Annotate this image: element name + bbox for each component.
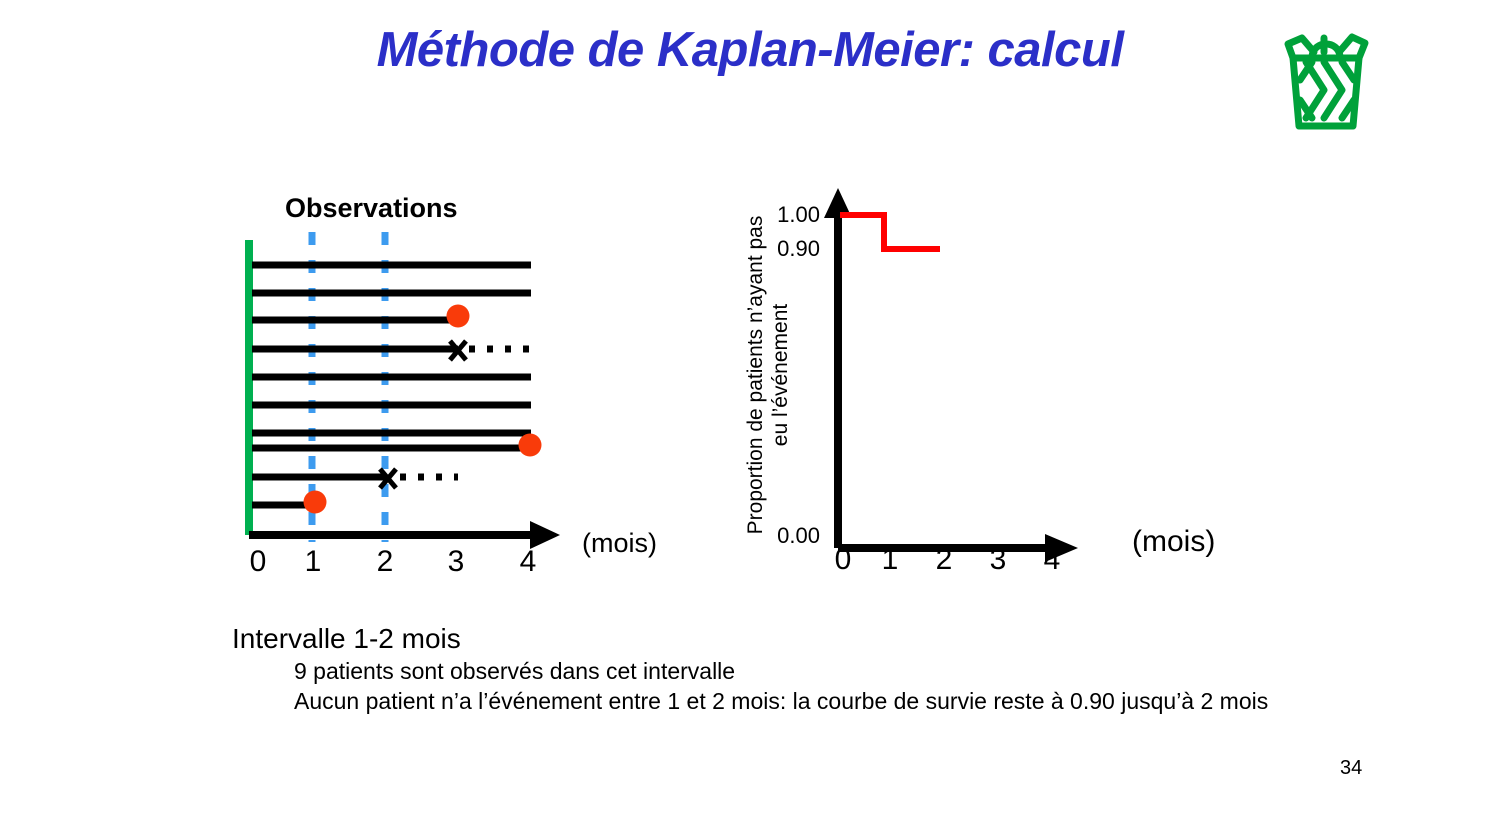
waste-basket-icon — [1266, 18, 1386, 138]
km-x-tick-4: 4 — [1037, 543, 1067, 577]
caption-heading: Intervalle 1-2 mois — [232, 622, 1412, 656]
slide-canvas: Méthode de Kaplan-Meier: calcul Observat… — [0, 0, 1500, 827]
event-dot-row-3 — [447, 305, 470, 328]
km-x-tick-2: 2 — [929, 543, 959, 577]
km-y-tick-0-00: 0.00 — [758, 523, 820, 549]
km-x-tick-3: 3 — [983, 543, 1013, 577]
km-y-tick-1-00: 1.00 — [758, 202, 820, 228]
kaplan-meier-chart: Proportion de patients n’ayant pas eu l’… — [700, 170, 1260, 600]
observations-x-tick-2: 2 — [370, 545, 400, 579]
observations-x-tick-0: 0 — [243, 545, 273, 579]
caption-line-1: 9 patients sont observés dans cet interv… — [294, 656, 1412, 686]
event-dot-row-8 — [519, 434, 542, 457]
km-y-tick-0-90: 0.90 — [758, 236, 820, 262]
page-number: 34 — [1340, 757, 1362, 780]
caption-block: Intervalle 1-2 mois 9 patients sont obse… — [232, 622, 1412, 716]
km-x-tick-1: 1 — [875, 543, 905, 577]
observations-x-tick-1: 1 — [298, 545, 328, 579]
caption-line-2: Aucun patient n’a l’événement entre 1 et… — [294, 686, 1412, 716]
km-survival-curve — [840, 215, 940, 249]
observations-chart: Observations — [230, 180, 690, 600]
km-x-tick-0: 0 — [828, 543, 858, 577]
observations-x-tick-3: 3 — [441, 545, 471, 579]
observations-axis-unit-label: (mois) — [582, 528, 657, 559]
event-dot-row-10 — [304, 491, 327, 514]
km-axis-unit-label: (mois) — [1132, 525, 1215, 559]
observations-x-tick-4: 4 — [513, 545, 543, 579]
page-title: Méthode de Kaplan-Meier: calcul — [270, 22, 1230, 78]
